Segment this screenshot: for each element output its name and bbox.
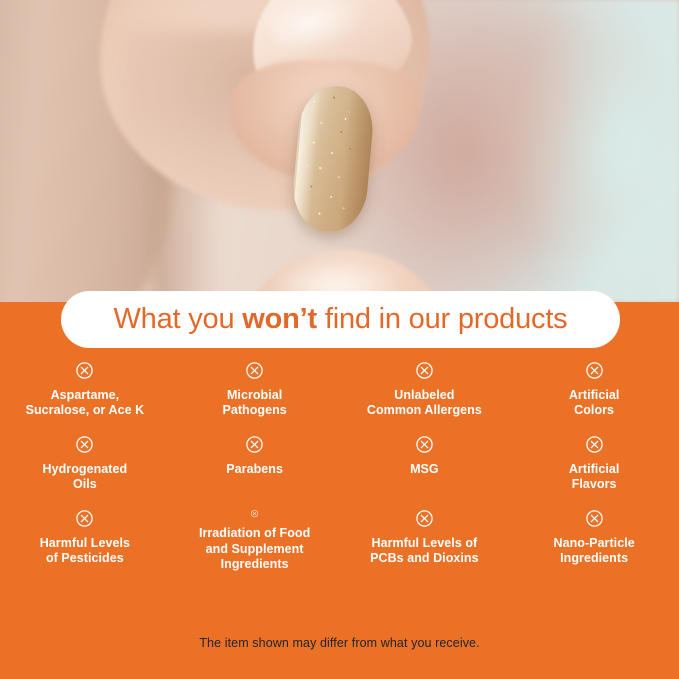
headline-suffix: find in our products <box>317 303 568 335</box>
excluded-item: Aspartame,Sucralose, or Ace K <box>0 362 170 422</box>
promo-graphic: What you won’t find in our products Aspa… <box>0 0 679 679</box>
circle-x-icon <box>416 510 433 527</box>
excluded-item-label: MSG <box>410 462 439 477</box>
excluded-item: HydrogenatedOils <box>0 436 170 496</box>
excluded-item-label: Irradiation of Foodand SupplementIngredi… <box>199 526 310 572</box>
circle-x-icon <box>416 362 433 379</box>
product-photo <box>0 0 679 302</box>
excluded-item: Harmful Levels ofPCBs and Dioxins <box>340 510 510 572</box>
circle-x-icon <box>246 362 263 379</box>
excluded-item: Irradiation of Foodand SupplementIngredi… <box>170 510 340 572</box>
headline-pill: What you won’t find in our products <box>61 291 620 348</box>
excluded-item: MSG <box>340 436 510 496</box>
excluded-item: ArtificialColors <box>509 362 679 422</box>
supplement-tablet <box>290 83 376 235</box>
circle-x-icon <box>586 510 603 527</box>
excluded-item-label: Parabens <box>226 462 283 477</box>
excluded-item: Parabens <box>170 436 340 496</box>
excluded-item-label: Harmful Levelsof Pesticides <box>40 536 130 567</box>
excluded-ingredients-grid: Aspartame,Sucralose, or Ace KMicrobialPa… <box>0 362 679 572</box>
headline-emphasis: won’t <box>242 303 317 335</box>
excluded-item-label: Nano-ParticleIngredients <box>554 536 635 567</box>
excluded-item-label: UnlabeledCommon Allergens <box>367 388 482 419</box>
excluded-item: Nano-ParticleIngredients <box>509 510 679 572</box>
circle-x-icon <box>76 510 93 527</box>
excluded-item: ArtificialFlavors <box>509 436 679 496</box>
page-title: What you won’t find in our products <box>114 303 568 336</box>
excluded-item: UnlabeledCommon Allergens <box>340 362 510 422</box>
circle-x-icon <box>586 362 603 379</box>
excluded-item-label: MicrobialPathogens <box>222 388 286 419</box>
excluded-item-label: HydrogenatedOils <box>43 462 128 493</box>
excluded-item-label: ArtificialFlavors <box>569 462 620 493</box>
excluded-item-label: Harmful Levels ofPCBs and Dioxins <box>370 536 478 567</box>
photo-background-teal <box>519 0 679 302</box>
circle-x-icon <box>246 510 263 517</box>
excluded-item: MicrobialPathogens <box>170 362 340 422</box>
circle-x-icon <box>76 436 93 453</box>
disclaimer-note: The item shown may differ from what you … <box>0 636 679 650</box>
excluded-item-label: ArtificialColors <box>569 388 620 419</box>
circle-x-icon <box>76 362 93 379</box>
circle-x-icon <box>586 436 603 453</box>
excluded-item-label: Aspartame,Sucralose, or Ace K <box>26 388 145 419</box>
circle-x-icon <box>246 436 263 453</box>
excluded-item: Harmful Levelsof Pesticides <box>0 510 170 572</box>
circle-x-icon <box>416 436 433 453</box>
headline-prefix: What you <box>114 303 243 335</box>
